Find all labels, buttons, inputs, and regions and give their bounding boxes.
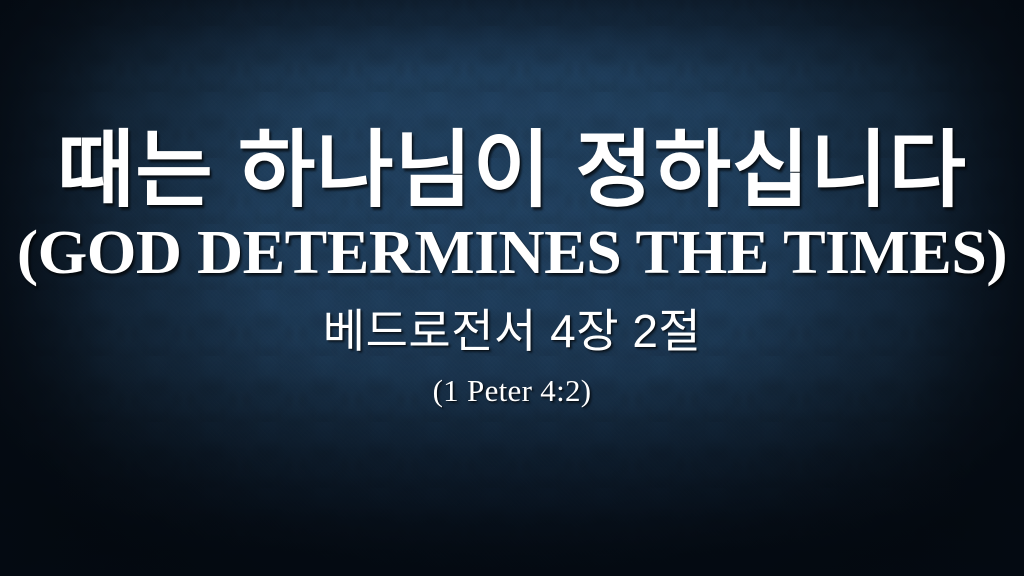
scripture-reference-korean: 베드로전서 4장 2절 xyxy=(0,306,1024,357)
slide-title-korean: 때는 하나님이 정하십니다 xyxy=(0,128,1024,214)
presentation-slide: 때는 하나님이 정하십니다 (GOD DETERMINES THE TIMES)… xyxy=(0,0,1024,576)
slide-title-english: (GOD DETERMINES THE TIMES) xyxy=(0,222,1024,284)
slide-content: 때는 하나님이 정하십니다 (GOD DETERMINES THE TIMES)… xyxy=(0,0,1024,576)
scripture-reference-english: (1 Peter 4:2) xyxy=(0,374,1024,408)
